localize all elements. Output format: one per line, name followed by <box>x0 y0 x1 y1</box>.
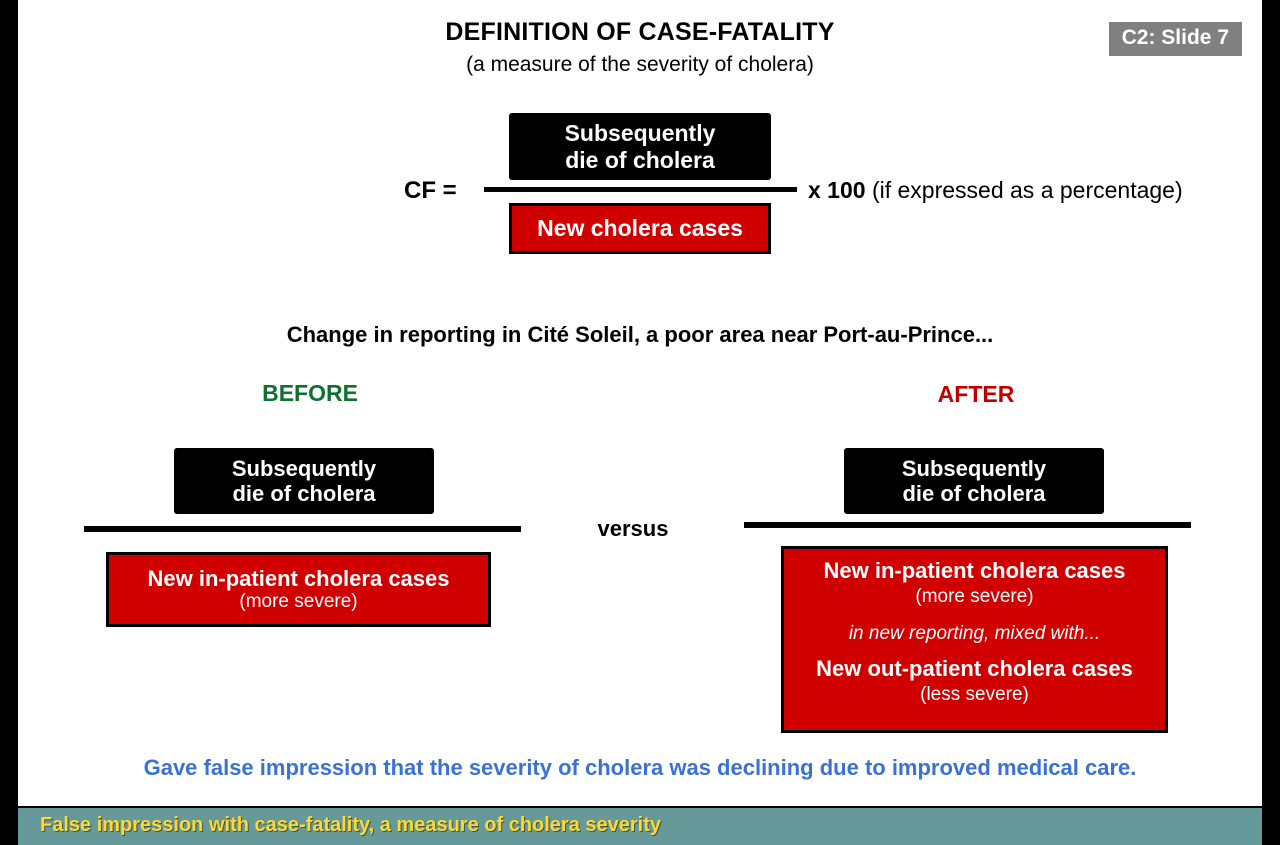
before-denominator-line2: (more severe) <box>109 591 488 612</box>
after-denominator-line3: in new reporting, mixed with... <box>784 623 1165 644</box>
after-denominator-box: New in-patient cholera cases (more sever… <box>781 546 1168 733</box>
conclusion-text: Gave false impression that the severity … <box>18 755 1262 781</box>
page-subtitle: (a measure of the severity of cholera) <box>18 53 1262 77</box>
page-title: DEFINITION OF CASE-FATALITY <box>18 18 1262 47</box>
slide-root: DEFINITION OF CASE-FATALITY (a measure o… <box>0 0 1280 845</box>
before-numerator-line2: die of cholera <box>174 481 434 506</box>
after-denominator-line4: New out-patient cholera cases <box>784 657 1165 682</box>
after-numerator-line2: die of cholera <box>844 481 1104 506</box>
formula-numerator-box: Subsequently die of cholera <box>509 113 771 180</box>
formula-multiplier-group: x 100 (if expressed as a percentage) <box>808 177 1183 204</box>
after-column-label: AFTER <box>906 381 1046 408</box>
before-column-label: BEFORE <box>240 380 380 407</box>
after-numerator-box: Subsequently die of cholera <box>844 448 1104 514</box>
after-fraction-rule <box>744 522 1191 528</box>
slide-canvas: DEFINITION OF CASE-FATALITY (a measure o… <box>18 0 1262 806</box>
status-badge: C2: Slide 7 <box>1109 22 1242 56</box>
before-numerator-box: Subsequently die of cholera <box>174 448 434 514</box>
before-numerator-line1: Subsequently <box>174 456 434 481</box>
formula-denominator-box: New cholera cases <box>509 203 771 254</box>
before-denominator-box: New in-patient cholera cases (more sever… <box>106 552 491 627</box>
formula-multiplier-note: (if expressed as a percentage) <box>872 177 1183 203</box>
after-denominator-line1: New in-patient cholera cases <box>784 559 1165 584</box>
formula-lhs-label: CF = <box>404 177 457 205</box>
after-denominator-line2: (more severe) <box>784 586 1165 607</box>
formula-fraction-rule <box>484 187 797 192</box>
versus-label: versus <box>558 516 708 542</box>
after-numerator-line1: Subsequently <box>844 456 1104 481</box>
comparison-intro-text: Change in reporting in Cité Soleil, a po… <box>18 322 1262 348</box>
formula-multiplier: x 100 <box>808 177 866 203</box>
formula-denominator-label: New cholera cases <box>512 216 768 242</box>
after-denominator-line5: (less severe) <box>784 684 1165 705</box>
formula-numerator-line2: die of cholera <box>509 147 771 173</box>
before-fraction-rule <box>84 526 521 532</box>
footer-bar: False impression with case-fatality, a m… <box>18 808 1262 845</box>
formula-numerator-line1: Subsequently <box>509 120 771 146</box>
before-denominator-line1: New in-patient cholera cases <box>109 567 488 592</box>
footer-caption: False impression with case-fatality, a m… <box>40 814 661 837</box>
